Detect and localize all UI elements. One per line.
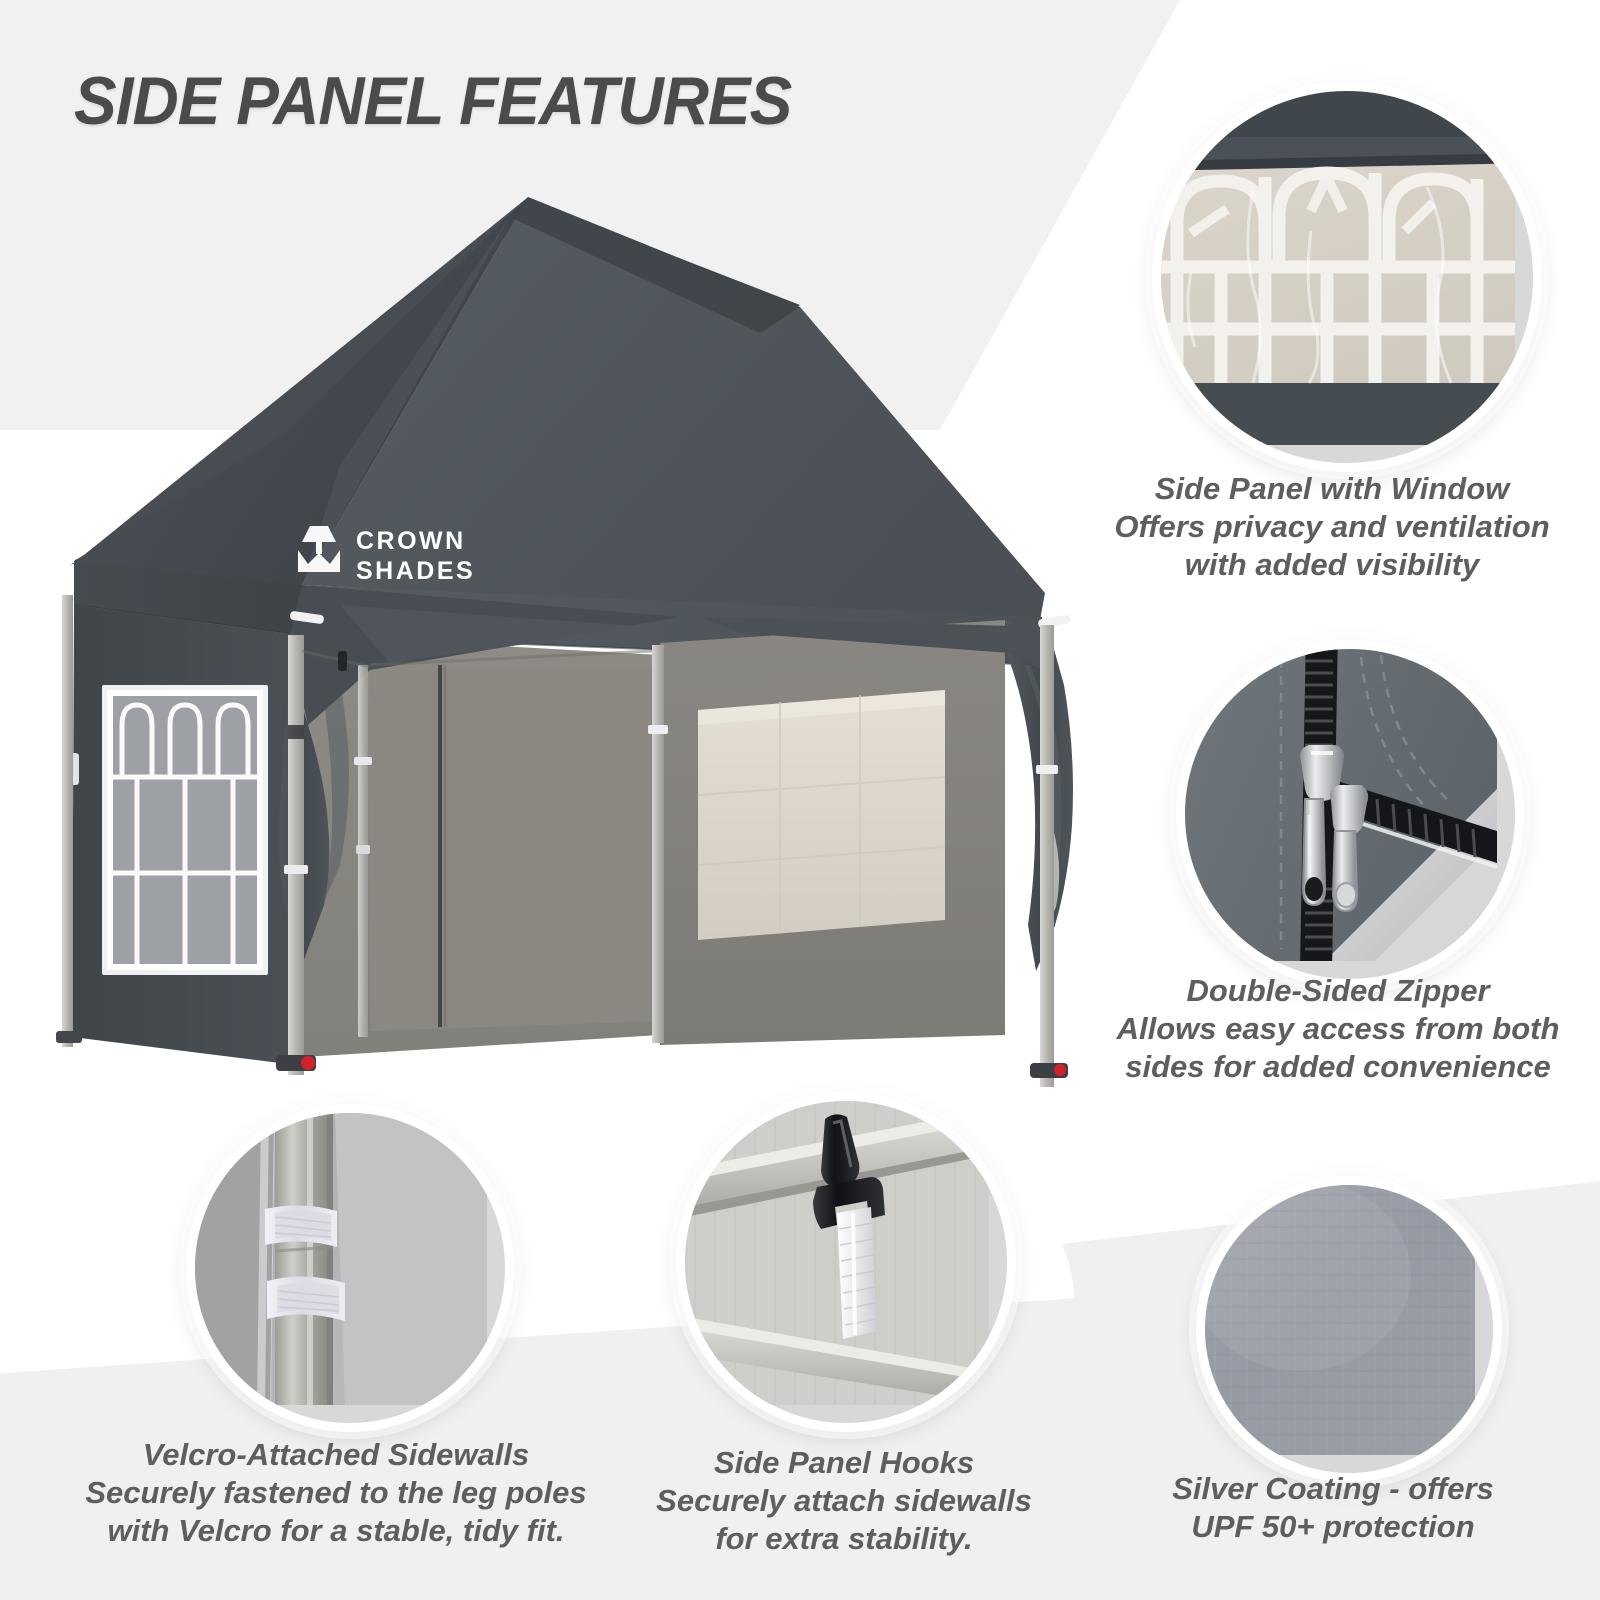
leg-foot-left bbox=[276, 1055, 316, 1071]
leg-foot-right bbox=[1030, 1063, 1068, 1078]
caption-silver-line1: Silver Coating - offers bbox=[1108, 1470, 1558, 1508]
velcro-strap-photo bbox=[195, 1113, 505, 1423]
leg-foot-far-left bbox=[56, 1031, 82, 1043]
double-sided-zipper-photo bbox=[1185, 649, 1515, 979]
page-title: SIDE PANEL FEATURES bbox=[74, 62, 791, 140]
caption-silver: Silver Coating - offers UPF 50+ protecti… bbox=[1108, 1470, 1558, 1546]
callout-circle-silver bbox=[1196, 1176, 1502, 1482]
caption-window-line1: Side Panel with Window bbox=[1072, 470, 1592, 508]
caption-zipper: Double-Sided Zipper Allows easy access f… bbox=[1082, 972, 1594, 1085]
caption-hook-line1: Side Panel Hooks bbox=[634, 1444, 1054, 1482]
caption-window-line2: Offers privacy and ventilation bbox=[1072, 508, 1592, 546]
brand-name-line1: CROWN bbox=[356, 527, 466, 555]
caption-window: Side Panel with Window Offers privacy an… bbox=[1072, 470, 1592, 583]
caption-zipper-line3: sides for added convenience bbox=[1082, 1048, 1594, 1086]
callout-circle-window bbox=[1152, 82, 1542, 472]
caption-velcro-line3: with Velcro for a stable, tidy fit. bbox=[56, 1512, 616, 1550]
caption-hook: Side Panel Hooks Securely attach sidewal… bbox=[634, 1444, 1054, 1557]
silver-coating-swatch bbox=[1205, 1185, 1493, 1473]
caption-zipper-line1: Double-Sided Zipper bbox=[1082, 972, 1594, 1010]
caption-velcro-line1: Velcro-Attached Sidewalls bbox=[56, 1436, 616, 1474]
callout-circle-velcro bbox=[186, 1104, 514, 1432]
caption-hook-line3: for extra stability. bbox=[634, 1520, 1054, 1558]
caption-velcro-line2: Securely fastened to the leg poles bbox=[56, 1474, 616, 1512]
caption-velcro: Velcro-Attached Sidewalls Securely faste… bbox=[56, 1436, 616, 1549]
brand-name-line2: SHADES bbox=[356, 557, 475, 585]
infographic-canvas: SIDE PANEL FEATURES bbox=[0, 0, 1600, 1600]
caption-silver-line2: UPF 50+ protection bbox=[1108, 1508, 1558, 1546]
caption-zipper-line2: Allows easy access from both bbox=[1082, 1010, 1594, 1048]
side-panel-hook-photo bbox=[685, 1101, 1007, 1423]
callout-circle-zipper bbox=[1176, 640, 1524, 988]
callout-circle-hook bbox=[676, 1092, 1016, 1432]
caption-window-line3: with added visibility bbox=[1072, 546, 1592, 584]
caption-hook-line2: Securely attach sidewalls bbox=[634, 1482, 1054, 1520]
side-panel-window-photo bbox=[1161, 91, 1533, 463]
canopy-tent-illustration: CROWN SHADES bbox=[40, 165, 1100, 1115]
